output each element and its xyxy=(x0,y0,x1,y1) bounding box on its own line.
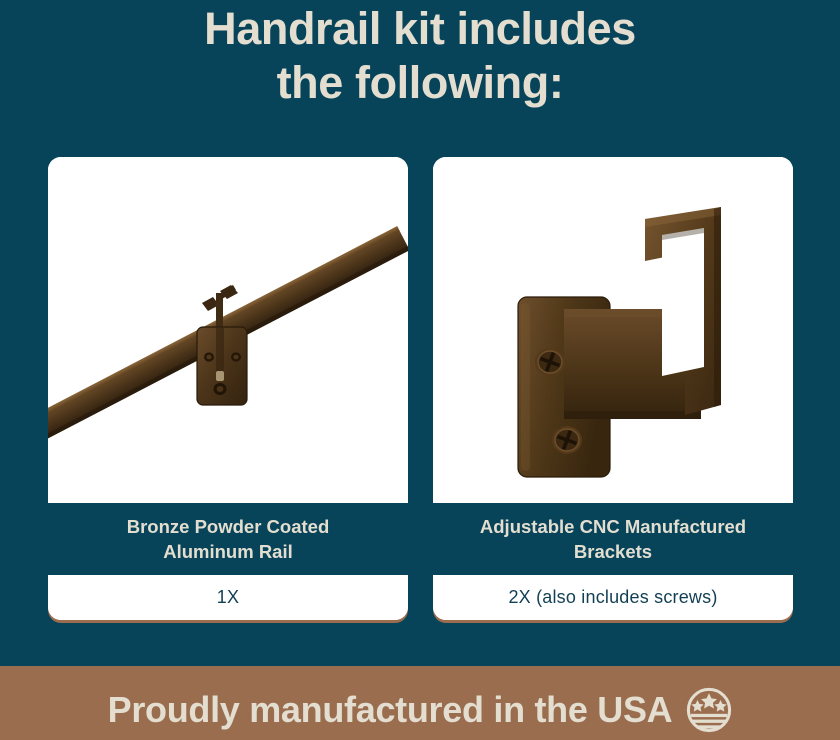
bracket-screw-lower xyxy=(552,426,582,454)
caption-rail-line-1: Bronze Powder Coated xyxy=(127,516,330,537)
product-card-rail: Bronze Powder Coated Aluminum Rail 1X xyxy=(48,157,408,620)
bracket-screw-upper xyxy=(535,348,565,376)
usa-badge-icon xyxy=(686,687,732,733)
footer-text: Proudly manufactured in the USA xyxy=(108,689,673,731)
page-title-line-1: Handrail kit includes xyxy=(0,2,840,56)
page-title-line-2: the following: xyxy=(0,56,840,110)
product-caption-bracket: Adjustable CNC Manufactured Brackets xyxy=(433,503,793,575)
product-photo-bracket xyxy=(433,157,793,503)
page-title: Handrail kit includes the following: xyxy=(0,2,840,110)
adjustable-cnc-bracket-illustration xyxy=(433,157,793,503)
product-quantity-bracket: 2X (also includes screws) xyxy=(433,575,793,620)
caption-rail-line-2: Aluminum Rail xyxy=(163,541,293,562)
infographic-root: Handrail kit includes the following: xyxy=(0,0,840,740)
caption-bracket-line-1: Adjustable CNC Manufactured xyxy=(480,516,746,537)
product-card-bracket: Adjustable CNC Manufactured Brackets 2X … xyxy=(433,157,793,620)
footer-banner: Proudly manufactured in the USA xyxy=(0,666,840,740)
product-quantity-rail: 1X xyxy=(48,575,408,620)
bronze-aluminum-rail-illustration xyxy=(48,157,408,503)
caption-bracket-line-2: Brackets xyxy=(574,541,652,562)
product-caption-rail: Bronze Powder Coated Aluminum Rail xyxy=(48,503,408,575)
product-photo-rail xyxy=(48,157,408,503)
